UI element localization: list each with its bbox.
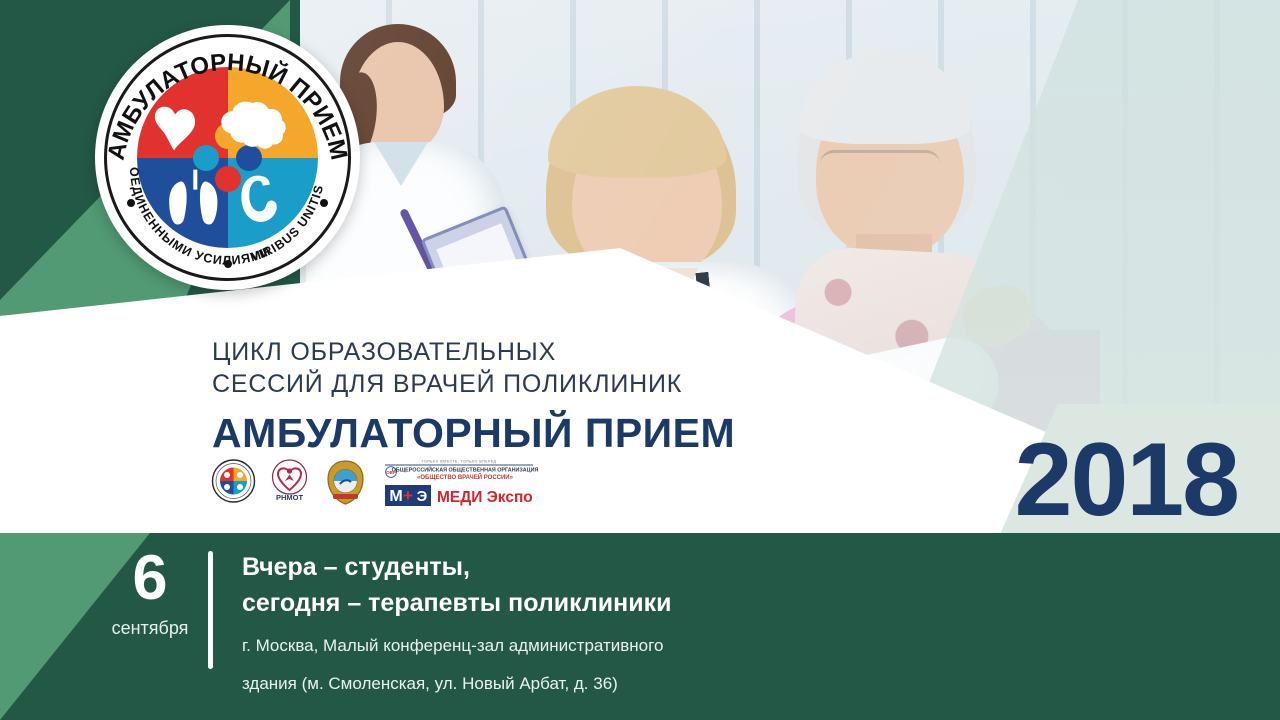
session-title-line-2: сегодня – терапевты поликлиники [242, 586, 672, 622]
logo-dot-left [127, 199, 135, 207]
svg-text:Э: Э [417, 488, 428, 505]
partner-logo-ambulatornyy-priem [211, 457, 256, 507]
svg-text:АМБУЛАТОРНЫЙ ПРИЕМ: АМБУЛАТОРНЫЙ ПРИЕМ [103, 49, 353, 162]
event-day: 6 [100, 549, 200, 609]
kicker-line-2: СЕССИЙ ДЛЯ ВРАЧЕЙ ПОЛИКЛИНИК [212, 368, 735, 400]
vertical-divider [208, 551, 213, 669]
event-date: 6 сентября [100, 549, 200, 639]
venue-line-1: г. Москва, Малый конференц-зал администр… [242, 634, 672, 659]
ambulatornyy-priem-logo: АМБУЛАТОРНЫЙ ПРИЕМ СОЕДИНЕННЫМИ УСИЛИЯМИ… [95, 25, 360, 290]
event-poster: АМБУЛАТОРНЫЙ ПРИЕМ СОЕДИНЕННЫМИ УСИЛИЯМИ… [0, 0, 1280, 720]
logo-arc-bottom-left-label: СОЕДИНЕННЫМИ УСИЛИЯМИ [90, 14, 273, 268]
year-label: 2018 [1015, 428, 1238, 532]
partner-top-slogan: ТОЛЬКО ВМЕСТЕ, ТОЛЬКО ВПЕРЕД [421, 460, 496, 464]
svg-text:СОЕДИНЕННЫМИ УСИЛИЯМИ: СОЕДИНЕННЫМИ УСИЛИЯМИ [90, 14, 273, 268]
session-info: Вчера – студенты, сегодня – терапевты по… [242, 550, 672, 696]
logo-dot-bottom [224, 260, 232, 268]
venue-line-2: здания (м. Смоленская, ул. Новый Арбат, … [242, 672, 672, 697]
partner-logos: РНМОТ ТОЛЬКО ВМЕСТЕ, ТОЛЬКО ВПЕРЕД ОВР О… [211, 456, 539, 508]
partner-logo-medi-expo-label: МЕДИ Экспо [437, 489, 533, 506]
kicker-line-1: ЦИКЛ ОБРАЗОВАТЕЛЬНЫХ [212, 336, 735, 368]
logo-arc-top-label: АМБУЛАТОРНЫЙ ПРИЕМ [103, 49, 353, 162]
logo-dot-right [320, 199, 328, 207]
session-title-line-1: Вчера – студенты, [242, 550, 672, 586]
headline-block: ЦИКЛ ОБРАЗОВАТЕЛЬНЫХ СЕССИЙ ДЛЯ ВРАЧЕЙ П… [212, 336, 735, 456]
partner-logo-obshchestvo-vrachey-rossii: ТОЛЬКО ВМЕСТЕ, ТОЛЬКО ВПЕРЕД ОВР ОБЩЕРОС… [379, 456, 539, 508]
logo-arc-text: АМБУЛАТОРНЫЙ ПРИЕМ СОЕДИНЕННЫМИ УСИЛИЯМИ… [95, 25, 360, 290]
event-month: сентября [100, 618, 200, 639]
partner-logo-rnmot: РНМОТ [267, 457, 312, 507]
partner-logo-rnmot-label: РНМОТ [276, 493, 304, 502]
page-title: АМБУЛАТОРНЫЙ ПРИЕМ [212, 411, 735, 456]
svg-text:М: М [389, 488, 402, 505]
svg-text:+: + [403, 486, 413, 505]
partner-org-line2: «ОБЩЕСТВО ВРАЧЕЙ РОССИИ» [417, 473, 514, 481]
svg-text:VIRIBUS UNITIS: VIRIBUS UNITIS [249, 183, 326, 264]
partner-logo-golden-emblem [323, 457, 368, 507]
logo-arc-bottom-right-label: VIRIBUS UNITIS [249, 183, 326, 264]
partner-org-line1: ОБЩЕРОССИЙСКАЯ ОБЩЕСТВЕННАЯ ОРГАНИЗАЦИЯ [392, 466, 539, 474]
